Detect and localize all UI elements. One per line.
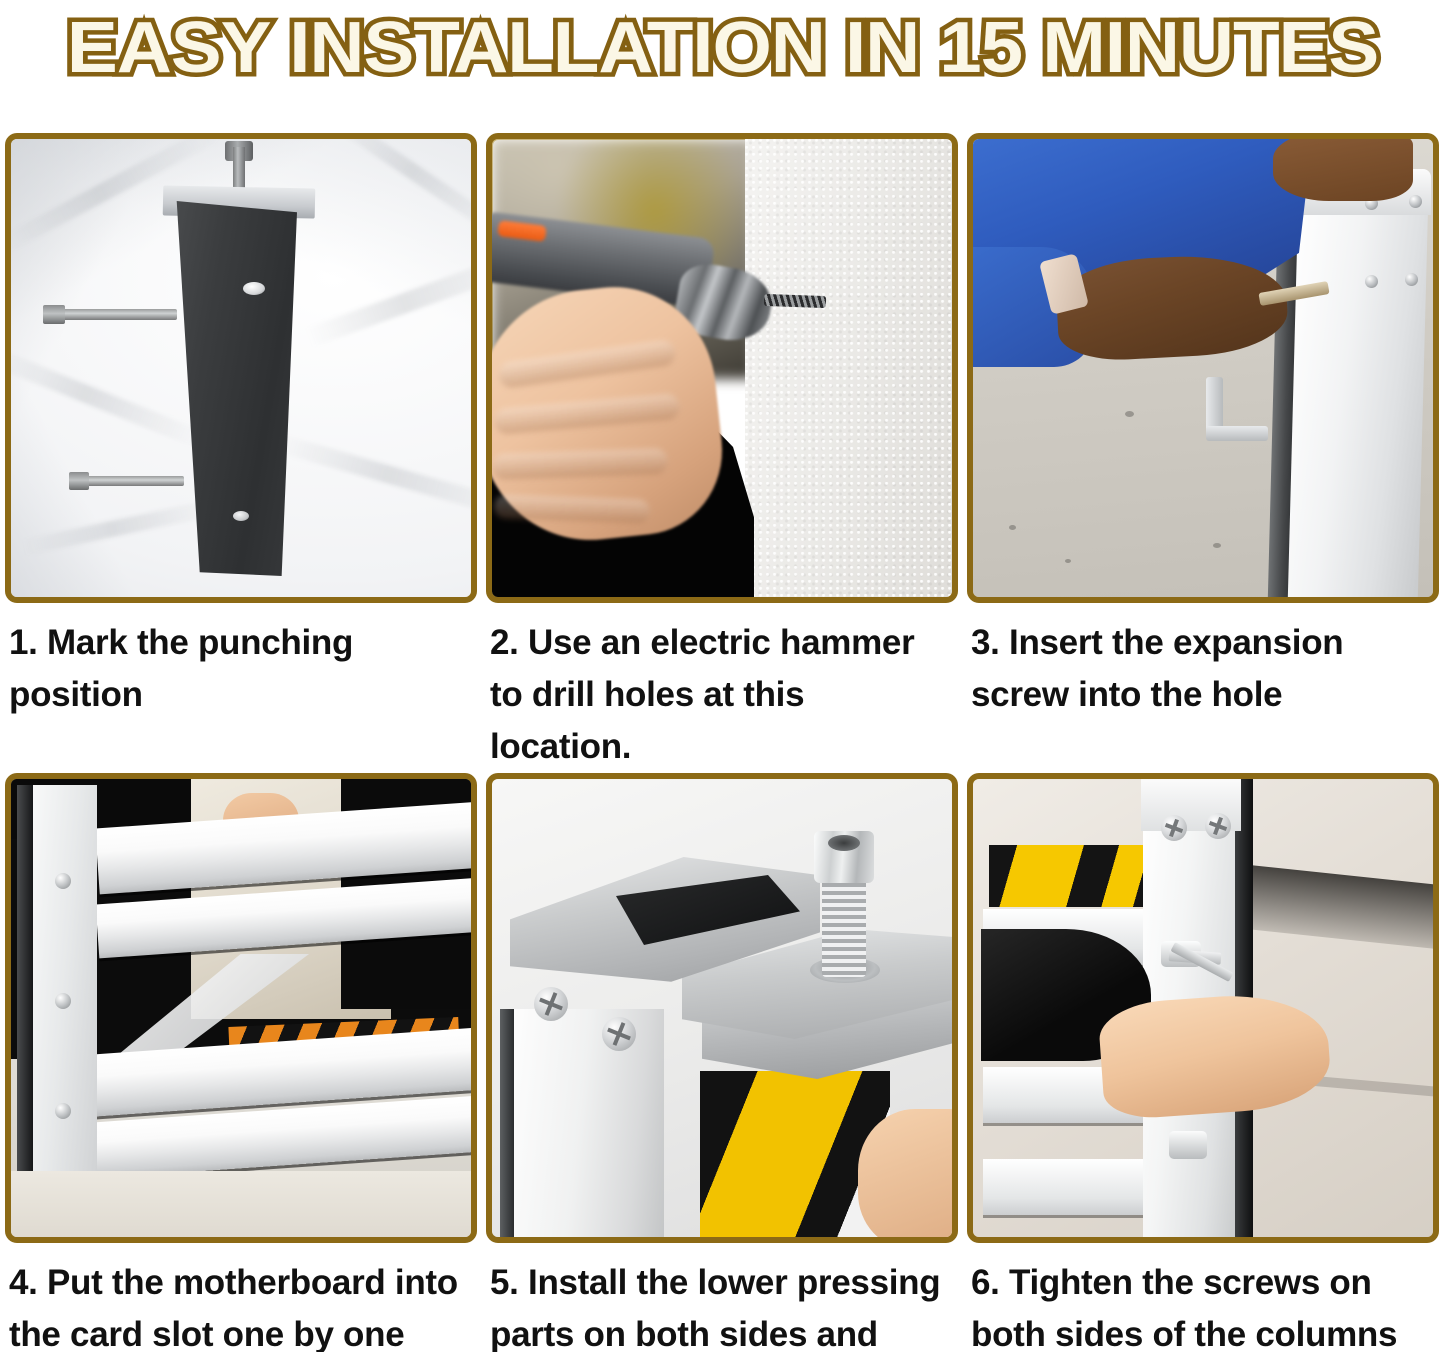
- step-5: 5. Install the lower pressing parts on b…: [486, 773, 958, 1352]
- mark-punching-position-photo: [11, 139, 471, 597]
- installation-guide-page: EASY INSTALLATION IN 15 MINUTES: [0, 0, 1445, 1352]
- tighten-column-screws-photo: [973, 779, 1433, 1237]
- step-3-caption: 3. Insert the expansion screw into the h…: [967, 617, 1439, 727]
- step-5-caption: 5. Install the lower pressing parts on b…: [486, 1257, 958, 1352]
- step-2-photo-frame: [486, 133, 958, 603]
- step-5-photo-frame: [486, 773, 958, 1243]
- step-1-photo-frame: [5, 133, 477, 603]
- page-title: EASY INSTALLATION IN 15 MINUTES: [67, 12, 1378, 84]
- drill-holes-photo: [492, 139, 952, 597]
- step-2-caption: 2. Use an electric hammer to drill holes…: [486, 617, 958, 773]
- step-3-photo-frame: [967, 133, 1439, 603]
- step-2: 2. Use an electric hammer to drill holes…: [486, 133, 958, 773]
- step-3: 3. Insert the expansion screw into the h…: [967, 133, 1439, 773]
- page-title-banner: EASY INSTALLATION IN 15 MINUTES: [0, 0, 1445, 96]
- step-4: 4. Put the motherboard into the card slo…: [5, 773, 477, 1352]
- step-1-caption: 1. Mark the punching position: [5, 617, 477, 727]
- step-6-photo-frame: [967, 773, 1439, 1243]
- insert-boards-photo: [11, 779, 471, 1237]
- step-4-photo-frame: [5, 773, 477, 1243]
- step-4-caption: 4. Put the motherboard into the card slo…: [5, 1257, 477, 1352]
- lower-pressing-parts-photo: [492, 779, 952, 1237]
- step-6: 6. Tighten the screws on both sides of t…: [967, 773, 1439, 1352]
- step-6-caption: 6. Tighten the screws on both sides of t…: [967, 1257, 1439, 1352]
- steps-grid: 1. Mark the punching position: [5, 133, 1440, 1343]
- insert-expansion-screw-photo: [973, 139, 1433, 597]
- step-1: 1. Mark the punching position: [5, 133, 477, 773]
